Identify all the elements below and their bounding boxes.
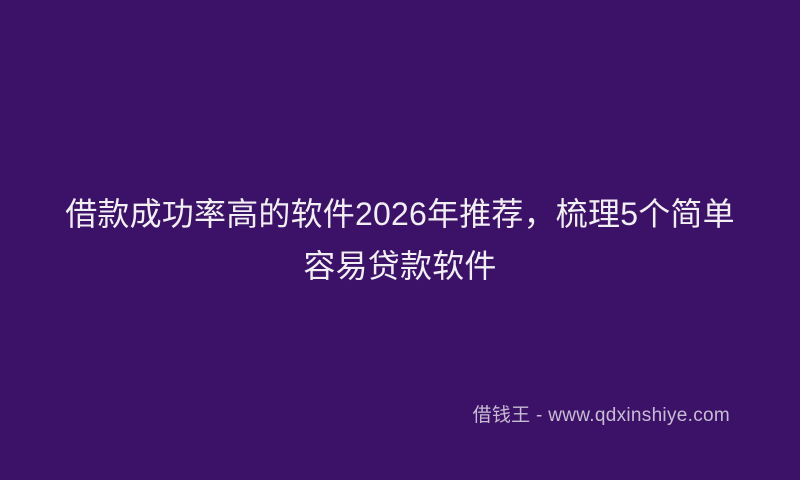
page-title: 借款成功率高的软件2026年推荐，梳理5个简单容易贷款软件 xyxy=(50,188,750,292)
poster-canvas: 借款成功率高的软件2026年推荐，梳理5个简单容易贷款软件 借钱王 - www.… xyxy=(0,0,800,480)
watermark-credit: 借钱王 - www.qdxinshiye.com xyxy=(473,404,730,428)
